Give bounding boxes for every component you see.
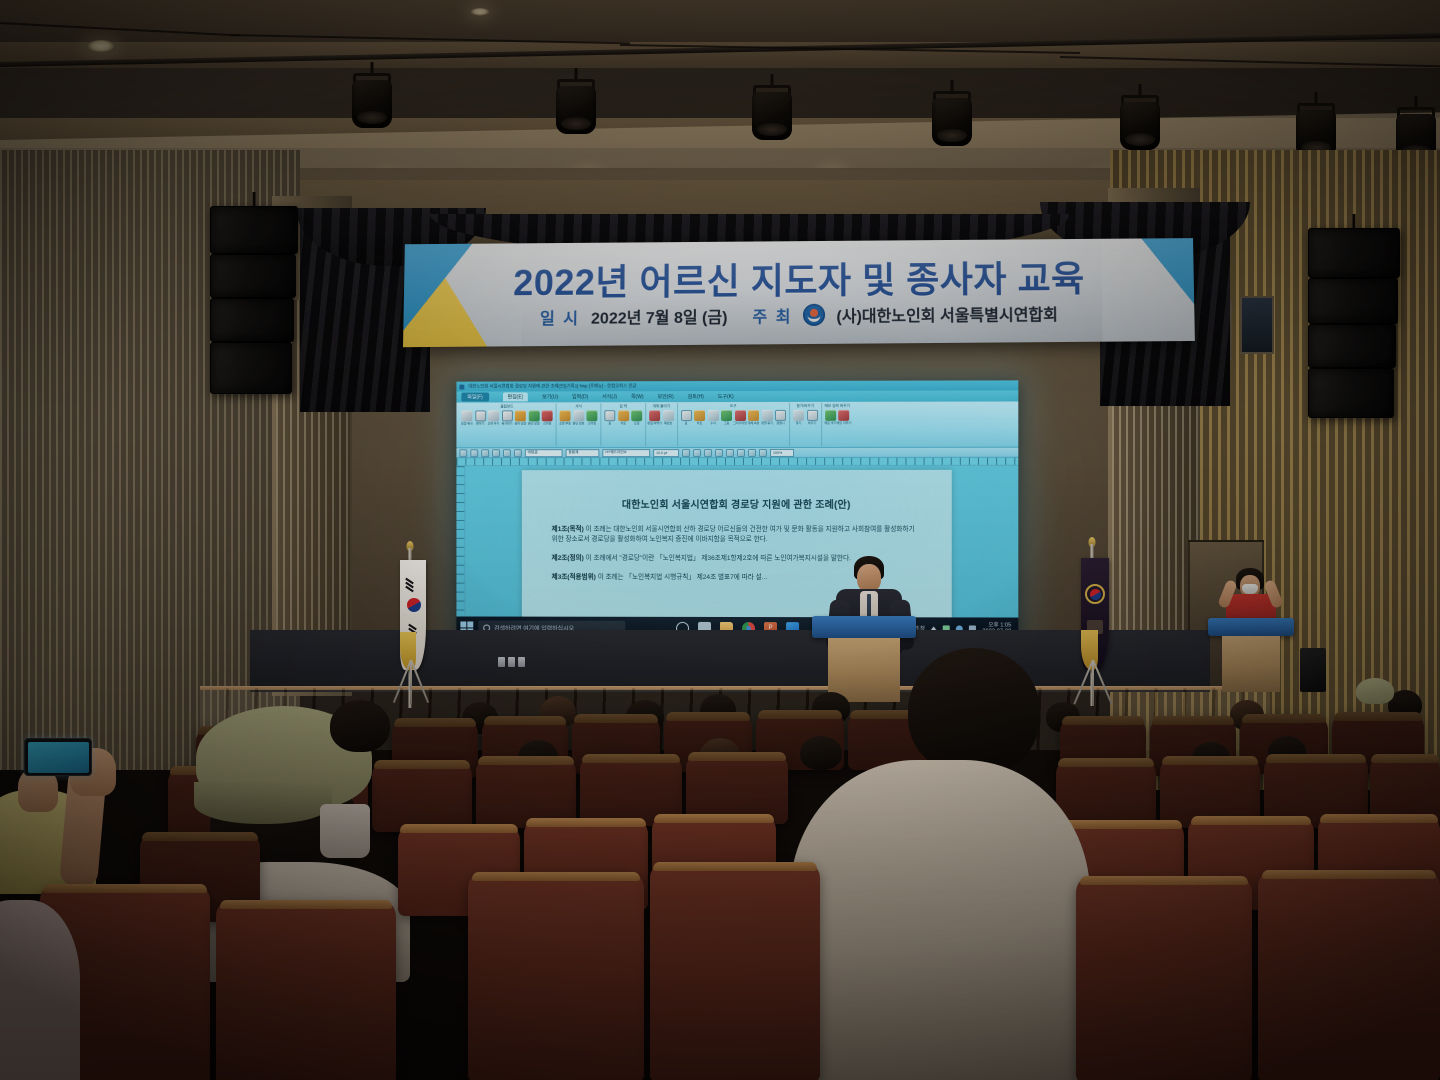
ribbon-caption: 스타일 bbox=[588, 422, 596, 425]
align-center-button[interactable] bbox=[737, 448, 745, 456]
char-shape-icon bbox=[515, 410, 526, 421]
ribbon-button-control-mark[interactable]: 조판 부호 bbox=[560, 410, 571, 425]
wall-plate bbox=[518, 657, 525, 667]
ribbon-button-table2[interactable]: 표 bbox=[681, 410, 692, 425]
taeguk-symbol bbox=[407, 598, 421, 612]
open-doc-button[interactable] bbox=[470, 449, 478, 457]
replace-icon bbox=[807, 410, 818, 421]
page-number-icon bbox=[663, 410, 674, 421]
ribbon-icons[interactable]: 메모 넣기 메모 지우기 bbox=[825, 410, 850, 425]
ribbon-button-wordart[interactable]: 글맵시 bbox=[775, 410, 786, 425]
ribbon-button-align-group[interactable]: 정렬 묶기 bbox=[762, 410, 773, 425]
ribbon-caption: 메모 넣기 bbox=[824, 422, 836, 425]
ribbon-button-chart2[interactable]: 차트 bbox=[694, 410, 705, 425]
ribbon-button-drawing-gallery[interactable]: 그리기마당 bbox=[735, 410, 746, 425]
style2-icon bbox=[586, 410, 597, 421]
downlight bbox=[86, 40, 116, 53]
chart2-icon bbox=[694, 410, 705, 421]
spotlight-lens bbox=[561, 117, 591, 130]
ribbon-toolbar[interactable]: 클립보드 모양 복사 붙이기 오려 두기 복사하기 글자 모양 문단 모양 스타… bbox=[456, 401, 1018, 448]
bold-button[interactable] bbox=[682, 449, 690, 457]
organization-flag-stand bbox=[1072, 544, 1112, 706]
picture-icon bbox=[721, 410, 732, 421]
spotlight-barrel bbox=[752, 92, 792, 140]
ribbon-button-table[interactable]: 표 bbox=[604, 410, 615, 425]
document-title: 대한노인회 서울시연합회 경로당 지원에 관한 조례(안) bbox=[552, 496, 922, 511]
speaker-cabinet bbox=[210, 342, 292, 394]
seat bbox=[650, 862, 820, 1080]
banner-date-value: 2022년 7월 8일 (금) bbox=[591, 304, 728, 329]
spotlight-barrel bbox=[556, 86, 596, 134]
para-shape-icon bbox=[528, 410, 539, 421]
ribbon-button-replace[interactable]: 바꾸기 bbox=[807, 410, 818, 425]
side-podium-top bbox=[1208, 618, 1294, 636]
ribbon-caption: 글맵시 bbox=[776, 422, 784, 425]
side-podium bbox=[1208, 618, 1294, 692]
document-article: 제1조(목적) 이 조례는 대한노인회 서울시연합회 산하 경로당 어르신들의 … bbox=[552, 525, 922, 545]
stage-monitor-speaker bbox=[1300, 648, 1326, 692]
ribbon-button-edit-margin[interactable]: 편집 여백기 bbox=[649, 410, 660, 425]
attendee-cream-shirt-head bbox=[908, 648, 1040, 774]
ribbon-group-label: 찾기/바꾸기 bbox=[797, 404, 815, 409]
ribbon-button-picture[interactable]: 그림 bbox=[721, 410, 732, 425]
seat bbox=[216, 900, 396, 1080]
spotlight-lens bbox=[1125, 133, 1155, 146]
ribbon-group-label: 개체 붙이기 bbox=[653, 404, 670, 409]
table-icon bbox=[604, 410, 615, 421]
attendee-cream-shirt-body bbox=[790, 760, 1090, 1080]
memo-delete-icon bbox=[838, 410, 849, 421]
taeguk-symbol bbox=[1090, 589, 1101, 600]
ribbon-button-para-number[interactable]: 문단 번호 bbox=[573, 410, 584, 425]
speaker-cabinet bbox=[210, 298, 294, 342]
ribbon-button-cut[interactable]: 오려 두기 bbox=[488, 410, 499, 425]
zoom-combo[interactable]: 100% bbox=[770, 448, 794, 456]
spotlight-barrel bbox=[1120, 102, 1160, 150]
new-doc-button[interactable] bbox=[459, 449, 467, 457]
banner-host-value: (사)대한노인회 서울특별시연합회 bbox=[836, 301, 1058, 327]
assistant-face-mask bbox=[1242, 584, 1258, 594]
organization-logo-icon bbox=[803, 304, 825, 326]
ribbon-button-copy[interactable]: 복사하기 bbox=[502, 410, 513, 425]
ribbon-caption: 차트 bbox=[697, 422, 703, 425]
organization-flag bbox=[1081, 558, 1109, 670]
main-podium-body bbox=[828, 638, 900, 702]
formatting-toolbar[interactable]: 바탕글 돋움체 HY헤드라인M 10.0 pt 100% bbox=[456, 448, 1018, 459]
attendee-head bbox=[330, 700, 390, 752]
tripod-leg bbox=[410, 660, 412, 704]
article-heading: 제3조(적용범위) bbox=[552, 574, 596, 581]
ribbon-caption: 개체 속성 bbox=[748, 422, 760, 425]
ribbon-group-label: 입 력 bbox=[619, 404, 627, 409]
side-podium-body bbox=[1222, 636, 1280, 692]
italic-button[interactable] bbox=[693, 449, 701, 457]
ribbon-group-label: 메모 입력 바꾸기 bbox=[825, 404, 850, 409]
vertical-ruler bbox=[456, 466, 465, 630]
equation-icon bbox=[708, 410, 719, 421]
ribbon-caption: 붙이기 bbox=[476, 422, 484, 425]
article-body: 이 조례는 「노인복지법 시행규칙」 제24조 별표7에 따라 설... bbox=[598, 574, 768, 581]
paste-icon bbox=[475, 410, 486, 421]
menu-item-edit[interactable]: 편집(E) bbox=[503, 392, 529, 401]
ribbon-caption: 문단 번호 bbox=[573, 422, 585, 425]
seat bbox=[1258, 870, 1440, 1080]
article-heading: 제1조(목적) bbox=[552, 526, 584, 533]
menu-item-security[interactable]: 보안(R) bbox=[658, 393, 674, 400]
speaker-cabinet bbox=[210, 206, 298, 254]
ribbon-caption: 찾기 bbox=[796, 422, 802, 425]
chart-icon bbox=[618, 410, 629, 421]
ribbon-group-clipboard: 클립보드 모양 복사 붙이기 오려 두기 복사하기 글자 모양 문단 모양 스타… bbox=[458, 403, 556, 446]
undo-button[interactable] bbox=[514, 449, 522, 457]
ribbon-icons[interactable]: 조판 부호 문단 번호 스타일 bbox=[560, 410, 598, 425]
ribbon-caption: 도형 bbox=[634, 422, 640, 425]
speaker-cabinet bbox=[1308, 368, 1394, 418]
ribbon-caption: 조판 부호 bbox=[559, 422, 571, 425]
ribbon-button-paste[interactable]: 붙이기 bbox=[475, 410, 486, 425]
speaker-cabinet bbox=[210, 254, 296, 298]
document-canvas[interactable]: 대한노인회 서울시연합회 경로당 지원에 관한 조례(안) 제1조(목적) 이 … bbox=[456, 466, 1018, 632]
ribbon-caption: 편집 여백기 bbox=[647, 422, 662, 425]
cut-icon bbox=[488, 410, 499, 421]
ribbon-button-memo-insert[interactable]: 메모 넣기 bbox=[825, 410, 836, 425]
spotlight-lens bbox=[357, 111, 387, 124]
ribbon-caption: 수식 bbox=[710, 422, 716, 425]
main-podium bbox=[812, 616, 916, 702]
article-heading: 제2조(정의) bbox=[552, 555, 584, 562]
ribbon-group-format: 서식 조판 부호 문단 번호 스타일 bbox=[557, 403, 602, 446]
ribbon-button-char-shape[interactable]: 글자 모양 bbox=[515, 410, 526, 425]
attendee-head bbox=[800, 736, 842, 770]
menu-item-format[interactable]: 서식(J) bbox=[602, 393, 617, 400]
style-combo[interactable]: 바탕글 bbox=[525, 449, 563, 457]
ribbon-caption: 쪽번호 bbox=[664, 422, 672, 425]
object-props-icon bbox=[748, 410, 759, 421]
speaker-cabinet bbox=[1308, 278, 1398, 324]
print-button[interactable] bbox=[492, 449, 500, 457]
wall-plate bbox=[508, 657, 515, 667]
menu-item-page[interactable]: 쪽(W) bbox=[631, 393, 644, 400]
article-body: 이 조례는 대한노인회 서울시연합회 산하 경로당 어르신들의 건전한 여가 및… bbox=[552, 526, 915, 543]
attendee-black-mask bbox=[320, 804, 370, 858]
ribbon-group-label: 도구 bbox=[730, 404, 737, 409]
ribbon-group-label: 서식 bbox=[575, 404, 582, 409]
speaker-cabinet bbox=[1308, 324, 1396, 368]
ribbon-group-input: 입 력 표 차트 도형 bbox=[601, 403, 646, 446]
spotlight-lens bbox=[937, 129, 967, 142]
search-icon bbox=[793, 410, 804, 421]
ribbon-button-equation[interactable]: 수식 bbox=[708, 410, 719, 425]
ribbon-caption: 스타일 bbox=[543, 422, 551, 425]
attendee-cap bbox=[1356, 678, 1394, 704]
ribbon-caption: 글자 모양 bbox=[514, 422, 526, 425]
ceiling-band-upper bbox=[0, 0, 1440, 42]
tripod-leg bbox=[1092, 660, 1094, 706]
ribbon-caption: 메모 지우기 bbox=[837, 422, 852, 425]
table2-icon bbox=[681, 410, 692, 421]
korean-national-flag bbox=[400, 560, 426, 670]
banner-date-label: 일 시 bbox=[540, 305, 580, 329]
ribbon-button-page-number[interactable]: 쪽번호 bbox=[663, 410, 674, 425]
national-flag-stand bbox=[390, 548, 430, 708]
speaker-cabinet bbox=[1308, 228, 1400, 278]
cap-brim bbox=[194, 782, 332, 824]
banner-title: 2022년 어르신 지도자 및 종사자 교육 bbox=[404, 249, 1194, 307]
align-left-button[interactable] bbox=[726, 449, 734, 457]
ribbon-caption: 오려 두기 bbox=[488, 422, 500, 425]
speaker-head bbox=[857, 564, 881, 592]
smartphone-screen bbox=[28, 742, 89, 773]
hangul-word-processor-window: 대한노인회 서울시연합회 경로당 지원에 관한 조례(안)[기록1] hwp [… bbox=[456, 380, 1018, 639]
banner-subtitle: 일 시 2022년 7월 8일 (금) 주 최 (사)대한노인회 서울특별시연합… bbox=[403, 300, 1194, 330]
event-banner: 2022년 어르신 지도자 및 종사자 교육 일 시 2022년 7월 8일 (… bbox=[403, 238, 1195, 347]
memo-insert-icon bbox=[825, 410, 836, 421]
ribbon-button-chart[interactable]: 차트 bbox=[618, 410, 629, 425]
menu-item-file[interactable]: 파일(F) bbox=[461, 393, 488, 402]
ribbon-group-object: 개체 붙이기 편집 여백기 쪽번호 bbox=[646, 403, 677, 446]
seat bbox=[372, 760, 472, 832]
ribbon-button-style2[interactable]: 스타일 bbox=[586, 410, 597, 425]
tripod-leg bbox=[1092, 660, 1113, 705]
font-combo[interactable]: 돋움체 bbox=[566, 449, 600, 457]
ribbon-caption: 바꾸기 bbox=[808, 422, 816, 425]
ribbon-button-para-shape[interactable]: 문단 모양 bbox=[528, 410, 539, 425]
style-icon bbox=[542, 410, 553, 421]
app-icon bbox=[459, 384, 464, 389]
wall-plate bbox=[498, 657, 505, 667]
auditorium-photo: 2022년 어르신 지도자 및 종사자 교육 일 시 2022년 7월 8일 (… bbox=[0, 0, 1440, 1080]
para-number-icon bbox=[573, 410, 584, 421]
ribbon-button-find[interactable]: 찾기 bbox=[793, 410, 804, 425]
ribbon-caption: 문단 모양 bbox=[528, 422, 540, 425]
ribbon-icons[interactable]: 찾기 바꾸기 bbox=[793, 410, 818, 425]
control-room-window bbox=[1240, 296, 1274, 354]
save-doc-button[interactable] bbox=[481, 449, 489, 457]
ribbon-button-format-copy[interactable]: 모양 복사 bbox=[461, 410, 472, 425]
font-color-button[interactable] bbox=[715, 449, 723, 457]
align-justify-button[interactable] bbox=[759, 448, 767, 456]
font-name-combo[interactable]: HY헤드라인M bbox=[602, 449, 650, 457]
main-podium-top bbox=[812, 616, 916, 638]
drawing-gallery-icon bbox=[735, 410, 746, 421]
copy-icon bbox=[502, 410, 513, 421]
menu-item-tools[interactable]: 도구(K) bbox=[718, 393, 734, 400]
ribbon-caption: 복사하기 bbox=[501, 422, 512, 425]
ribbon-caption: 그림 bbox=[724, 422, 730, 425]
wordart-icon bbox=[775, 410, 786, 421]
seat bbox=[468, 872, 644, 1080]
font-size-combo[interactable]: 10.0 pt bbox=[653, 449, 679, 457]
ribbon-button-shape[interactable]: 도형 bbox=[631, 410, 642, 425]
seat bbox=[1076, 876, 1252, 1080]
article-body: 이 조례에서 "경로당"이란 「노인복지법」 제36조제1항제2호에 따른 노인… bbox=[586, 555, 851, 562]
format-copy-icon bbox=[461, 410, 472, 421]
underline-button[interactable] bbox=[704, 449, 712, 457]
ribbon-group-label: 클립보드 bbox=[500, 404, 513, 409]
banner-host-label: 주 최 bbox=[752, 303, 792, 327]
control-mark-icon bbox=[560, 410, 571, 421]
speaker-array-left bbox=[210, 206, 298, 396]
menu-item-review[interactable]: 검토(H) bbox=[688, 393, 704, 400]
ribbon-button-style[interactable]: 스타일 bbox=[542, 410, 553, 425]
ribbon-group-memo: 메모 입력 바꾸기 메모 넣기 메모 지우기 bbox=[822, 403, 853, 446]
titlebar-text: 대한노인회 서울시연합회 경로당 지원에 관한 조례(안)[기록1] hwp [… bbox=[468, 383, 636, 389]
ribbon-caption: 그리기마당 bbox=[733, 422, 747, 425]
ribbon-group-tools: 도구 표 차트 수식 그림 그리기마당 개체 속성 정렬 묶기 글맵시 bbox=[678, 403, 790, 446]
spotlight-barrel bbox=[932, 98, 972, 146]
ribbon-icons[interactable]: 모양 복사 붙이기 오려 두기 복사하기 글자 모양 문단 모양 스타일 bbox=[461, 410, 552, 425]
spotlight-lens bbox=[757, 123, 787, 136]
align-right-button[interactable] bbox=[748, 448, 756, 456]
ribbon-group-find-replace: 찾기/바꾸기 찾기 바꾸기 bbox=[790, 403, 822, 446]
ribbon-caption: 표 bbox=[608, 422, 611, 425]
ribbon-caption: 모양 복사 bbox=[461, 422, 473, 425]
shape-icon bbox=[631, 410, 642, 421]
speaker-array-right bbox=[1308, 228, 1400, 414]
projection-screen: 대한노인회 서울시연합회 경로당 지원에 관한 조례(안)[기록1] hwp [… bbox=[456, 380, 1018, 639]
ribbon-caption: 정렬 묶기 bbox=[761, 422, 773, 425]
smartphone[interactable] bbox=[24, 738, 92, 776]
ribbon-icons[interactable]: 표 차트 도형 bbox=[604, 410, 642, 425]
ribbon-caption: 차트 bbox=[620, 422, 626, 425]
ribbon-caption: 표 bbox=[685, 422, 688, 425]
downlight bbox=[470, 8, 490, 16]
menu-item-input[interactable]: 입력(D) bbox=[572, 393, 588, 400]
edit-margin-icon bbox=[649, 410, 660, 421]
spotlight-barrel bbox=[352, 80, 392, 128]
ribbon-button-object-props[interactable]: 개체 속성 bbox=[748, 410, 759, 425]
align-group-icon bbox=[762, 410, 773, 421]
ribbon-button-memo-delete[interactable]: 메모 지우기 bbox=[838, 410, 849, 425]
ribbon-icons[interactable]: 표 차트 수식 그림 그리기마당 개체 속성 정렬 묶기 글맵시 bbox=[681, 410, 786, 425]
preview-button[interactable] bbox=[503, 449, 511, 457]
ribbon-icons[interactable]: 편집 여백기 쪽번호 bbox=[649, 410, 673, 425]
menu-item-view[interactable]: 보기(U) bbox=[542, 393, 558, 400]
